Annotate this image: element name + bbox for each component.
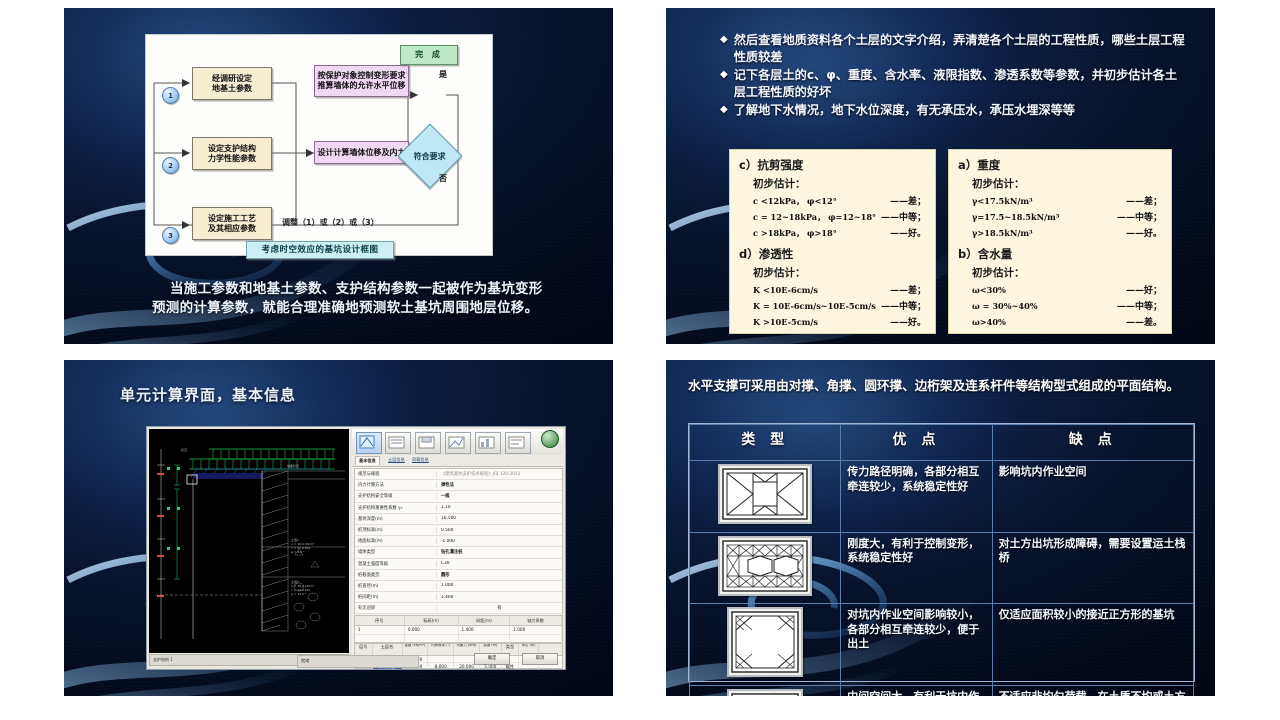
panel-row: ω<30%——好； xyxy=(972,283,1162,296)
panel-row: c = 12~18kPa， φ=12~18°——中等； xyxy=(753,210,926,223)
table-row: 中间空间大，有利于坑内作业 不适应非均匀荷载，在土质不均或土方开挖不对称的情况下… xyxy=(690,685,1194,696)
panel-row-rhs: ——好； xyxy=(1122,283,1162,296)
panel-row-lhs: γ=17.5~18.5kN/m³ xyxy=(972,212,1113,222)
panel-row-lhs: c = 12~18kPa， φ=12~18° xyxy=(753,211,877,223)
property-key: 有无冠梁 xyxy=(355,605,437,611)
slide-1-caption: 当施工参数和地基土参数、支护结构参数一起被作为基坑变形 预测的计算参数，就能合理… xyxy=(152,280,589,318)
support-level-grid[interactable]: 序号 标高(m) 间距(m) 轴力系数 1 0.000 1.400 1.000 xyxy=(354,615,563,643)
property-value: 1.10 xyxy=(437,505,562,510)
property-row: 基坑深度(m)16.500 xyxy=(355,514,562,525)
flowchart-container: 经调研设定地基土参数 1 设定支护结构力学性能参数 2 设定施工工艺及其相应参数… xyxy=(145,34,493,256)
panel-row: c <12kPa， φ<12°——差； xyxy=(753,194,926,207)
property-key: 支护结构重要性系数 γ₀ xyxy=(355,505,437,511)
panel-row-rhs: ——好。 xyxy=(1122,226,1162,239)
panel-row-lhs: K >10E-5cm/s xyxy=(753,317,886,327)
grid-row: 1 0.000 1.400 1.000 xyxy=(355,626,562,635)
panel-row-lhs: ω = 30%~40% xyxy=(972,301,1113,311)
cad-viewport[interactable]: 土层1 γ = 18.0 kN/m³ c = 20.0 kPa φ = 8.0 … xyxy=(149,429,349,653)
flow-box-constraint[interactable]: 按保护对象控制变形要求推算墙体的允许水平位移 xyxy=(314,65,409,97)
property-key: 内力计算方法 xyxy=(355,482,437,488)
panel-section-sub: 初步估计： xyxy=(972,265,1162,280)
bullet-item: ◆了解地下水情况，地下水位深度，有无承压水，承压水埋深等等 xyxy=(720,102,1189,119)
panel-row-lhs: γ>18.5kN/m³ xyxy=(972,228,1122,238)
type-cell xyxy=(690,604,841,686)
diamond-bullet-icon: ◆ xyxy=(720,102,728,119)
panel-row-lhs: γ<17.5kN/m³ xyxy=(972,196,1122,206)
slide-4[interactable]: 水平支撑可采用由对撑、角撑、圆环撑、边桁架及连系杆件等结构型式组成的平面结构。 … xyxy=(666,360,1215,696)
slide-4-title: 水平支撑可采用由对撑、角撑、圆环撑、边桁架及连系杆件等结构型式组成的平面结构。 xyxy=(688,378,1197,394)
flow-box-design-label: 设计计算墙体位移及内力 xyxy=(318,148,406,158)
flowchart-caption: 考虑时空效应的基坑设计框图 xyxy=(246,241,394,259)
panel-row-rhs: ——差。 xyxy=(1122,315,1162,328)
flow-box-3-label: 设定施工工艺及其相应参数 xyxy=(208,214,256,234)
support-type-table: 类 型 优 点 缺 点 xyxy=(688,423,1195,682)
grid-cell: 1 xyxy=(355,626,405,634)
dense-grid-truss-diagram-icon xyxy=(718,536,812,596)
flow-decision-label: 符合要求 xyxy=(414,151,446,162)
property-row: 支护结构安全等级一级 xyxy=(355,491,562,502)
property-row: 桩直径(m)1.000 xyxy=(355,581,562,592)
property-key: 混凝土强度等级 xyxy=(355,561,437,567)
panel-row-rhs: ——中等； xyxy=(1113,299,1162,312)
property-row: 规范与规程《建筑基坑支护技术规程》JGJ 120-2012 xyxy=(355,469,562,480)
panel-row-lhs: ω<30% xyxy=(972,285,1122,295)
grid-header: 序号 标高(m) 间距(m) 轴力系数 xyxy=(355,616,562,626)
property-list[interactable]: 规范与规程《建筑基坑支护技术规程》JGJ 120-2012 内力计算方法弹性法 … xyxy=(354,468,563,614)
property-value: C30 xyxy=(437,561,562,566)
table-header-row: 类 型 优 点 缺 点 xyxy=(690,425,1194,461)
panel-row-rhs: ——差； xyxy=(886,283,926,296)
panel-row-rhs: ——中等； xyxy=(877,299,926,312)
grid-cell: 1.400 xyxy=(459,626,511,634)
flow-step-number-1: 1 xyxy=(162,87,179,104)
grid-col-header: 序号 xyxy=(355,616,405,625)
flow-box-2-label: 设定支护结构力学性能参数 xyxy=(208,144,256,164)
header-type: 类 型 xyxy=(690,425,841,461)
grid-col-header: 标高(m) xyxy=(405,616,459,625)
panel-row: K >10E-5cm/s——好。 xyxy=(753,315,926,328)
tab-load-info[interactable]: 荷载信息 xyxy=(410,456,431,464)
flow-step-number-2: 2 xyxy=(162,157,179,174)
panel-section-sub: 初步估计： xyxy=(753,176,926,191)
flow-step-number-3: 3 xyxy=(162,227,179,244)
slide-1-caption-line1: 当施工参数和地基土参数、支护结构参数一起被作为基坑变形 xyxy=(170,281,543,297)
slide-1-caption-line2: 预测的计算参数，就能合理准确地预测软土基坑周围地层位移。 xyxy=(152,300,538,316)
flow-label-yes: 是 xyxy=(439,69,447,80)
cancel-button[interactable]: 取消 xyxy=(522,653,558,665)
panel-row-lhs: K <10E-6cm/s xyxy=(753,285,886,295)
ok-button[interactable]: 确定 xyxy=(474,653,510,665)
diamond-bullet-icon: ◆ xyxy=(720,67,728,101)
panel-row-rhs: ——差； xyxy=(886,194,926,207)
property-row: 桩截面类型圆形 xyxy=(355,570,562,581)
property-value: 有 xyxy=(437,605,562,611)
panel-row: ω = 30%~40%——中等； xyxy=(972,299,1162,312)
tab-soil-info[interactable]: 土层信息 xyxy=(386,456,407,464)
grid-cell: 0.000 xyxy=(405,626,459,634)
help-circle-icon[interactable] xyxy=(541,430,559,448)
panel-row: γ<17.5kN/m³——差； xyxy=(972,194,1162,207)
panel-row-rhs: ——中等； xyxy=(1113,210,1162,223)
grid-cell: 1.000 xyxy=(510,626,562,634)
pros-cell: 传力路径明确，各部分相互牵连较少，系统稳定性好 xyxy=(841,461,992,533)
app-status-bar: 就绪 xyxy=(297,655,419,668)
type-cell xyxy=(690,685,841,696)
bullet-item: ◆记下各层土的c、φ、重度、含水率、液限指数、渗透系数等参数，并初步估计各土层工… xyxy=(720,67,1189,101)
header-pros: 优 点 xyxy=(841,425,992,461)
flow-box-1-label: 经调研设定地基土参数 xyxy=(212,74,252,94)
panel-row: K <10E-6cm/s——差； xyxy=(753,283,926,296)
flow-terminal-label: 完 成 xyxy=(415,50,443,60)
property-row: 墙体类型钻孔灌注桩 xyxy=(355,547,562,558)
flow-label-no: 否 xyxy=(439,173,447,184)
panel-row: ω>40%——差。 xyxy=(972,315,1162,328)
flowchart-caption-label: 考虑时空效应的基坑设计框图 xyxy=(261,245,378,256)
panel-section-sub: 初步估计： xyxy=(972,176,1162,191)
svg-text:φ = 8.0 °: φ = 8.0 ° xyxy=(291,550,305,554)
panel-section-heading: d）渗透性 xyxy=(739,246,926,262)
panel-row: c >18kPa， φ>18°——好。 xyxy=(753,226,926,239)
table-row: 对坑内作业空间影响较小，各部分相互牵连较少，便于出土 仅适应面积较小的接近正方形… xyxy=(690,604,1194,686)
property-value: 一级 xyxy=(437,493,562,499)
panel-density-moisture: a）重度 初步估计： γ<17.5kN/m³——差； γ=17.5~18.5kN… xyxy=(948,149,1172,334)
flow-box-design[interactable]: 设计计算墙体位移及内力 xyxy=(314,141,409,164)
bullet-text: 然后查看地质资料各个土层的文字介绍，弄清楚各个土层的工程性质，哪些土层工程性质较… xyxy=(734,32,1189,66)
slide-1[interactable]: 经调研设定地基土参数 1 设定支护结构力学性能参数 2 设定施工工艺及其相应参数… xyxy=(64,8,613,344)
bullet-text: 记下各层土的c、φ、重度、含水率、液限指数、渗透系数等参数，并初步估计各土层工程… xyxy=(734,67,1189,101)
panel-row: γ=17.5~18.5kN/m³——中等； xyxy=(972,210,1162,223)
flow-terminal[interactable]: 完 成 xyxy=(400,45,458,65)
property-value: 圆形 xyxy=(437,572,562,578)
panel-row: K = 10E-6cm/s~10E-5cm/s——中等； xyxy=(753,299,926,312)
property-row: 地面标高(m)-1.000 xyxy=(355,536,562,547)
toolbar-button-report[interactable] xyxy=(505,432,531,454)
slide-2[interactable]: ◆然后查看地质资料各个土层的文字介绍，弄清楚各个土层的工程性质，哪些土层工程性质… xyxy=(666,8,1215,344)
tab-basic-info[interactable]: 基本信息 xyxy=(355,456,380,465)
panel-row: γ>18.5kN/m³——好。 xyxy=(972,226,1162,239)
flow-box-constraint-label: 按保护对象控制变形要求推算墙体的允许水平位移 xyxy=(318,71,406,91)
property-key: 桩间距(m) xyxy=(355,594,437,600)
toolbar-button-new[interactable] xyxy=(356,432,382,454)
panel-section-heading: b）含水量 xyxy=(958,246,1162,262)
property-value: 《建筑基坑支护技术规程》JGJ 120-2012 xyxy=(437,471,562,477)
property-row: 内力计算方法弹性法 xyxy=(355,480,562,491)
pros-cell: 刚度大，有利于控制变形，系统稳定性好 xyxy=(841,532,992,604)
flow-box-3[interactable]: 设定施工工艺及其相应参数 xyxy=(192,207,272,240)
octagon-corner-brace-diagram-icon xyxy=(727,607,803,677)
panel-row-rhs: ——中等； xyxy=(877,210,926,223)
flow-box-1[interactable]: 经调研设定地基土参数 xyxy=(192,67,272,100)
grid-col-header: 轴力系数 xyxy=(510,616,562,625)
slide-3-title: 单元计算界面，基本信息 xyxy=(120,384,296,405)
property-key: 桩顶标高(m) xyxy=(355,527,437,533)
panel-row-rhs: ——好。 xyxy=(886,315,926,328)
bullet-text: 了解地下水情况，地下水位深度，有无承压水，承压水埋深等等 xyxy=(734,102,1189,119)
property-value: 弹性法 xyxy=(437,482,562,488)
property-row: 桩间距(m)1.400 xyxy=(355,592,562,603)
toolbar-button-calc[interactable] xyxy=(445,432,471,454)
slide-3[interactable]: 单元计算界面，基本信息 xyxy=(64,360,613,696)
flow-box-2[interactable]: 设定支护结构力学性能参数 xyxy=(192,137,272,170)
type-cell xyxy=(690,532,841,604)
property-value: -1.000 xyxy=(437,539,562,544)
panel-row-rhs: ——好。 xyxy=(886,226,926,239)
svg-text:地面标高: 地面标高 xyxy=(287,463,299,468)
property-row: 有无冠梁有 xyxy=(355,603,562,614)
header-cons: 缺 点 xyxy=(992,425,1193,461)
property-key: 桩直径(m) xyxy=(355,583,437,589)
toolbar-button-open[interactable] xyxy=(385,432,411,454)
table-row: 传力路径明确，各部分相互牵连较少，系统稳定性好 影响坑内作业空间 xyxy=(690,461,1194,533)
properties-pane[interactable]: 基本信息 土层信息 荷载信息 规范与规程《建筑基坑支护技术规程》JGJ 120-… xyxy=(352,429,563,667)
property-row: 支护结构重要性系数 γ₀1.10 xyxy=(355,503,562,514)
property-row: 桩顶标高(m)0.500 xyxy=(355,525,562,536)
slide-2-bullet-list: ◆然后查看地质资料各个土层的文字介绍，弄清楚各个土层的工程性质，哪些土层工程性质… xyxy=(720,32,1189,120)
panel-row-lhs: c <12kPa， φ<12° xyxy=(753,195,886,207)
toolbar-button-chart[interactable] xyxy=(475,432,501,454)
cons-cell: 仅适应面积较小的接近正方形的基坑 xyxy=(992,604,1193,686)
panel-row-lhs: K = 10E-6cm/s~10E-5cm/s xyxy=(753,301,877,311)
panel-section-heading: a）重度 xyxy=(958,157,1162,173)
bullet-item: ◆然后查看地质资料各个土层的文字介绍，弄清楚各个土层的工程性质，哪些土层工程性质… xyxy=(720,32,1189,66)
slides-contact-sheet: 经调研设定地基土参数 1 设定支护结构力学性能参数 2 设定施工工艺及其相应参数… xyxy=(0,0,1280,720)
property-key: 地面标高(m) xyxy=(355,538,437,544)
property-value: 1.400 xyxy=(437,595,562,600)
circular-ring-brace-diagram-icon xyxy=(727,689,803,696)
software-window-screenshot[interactable]: 土层1 γ = 18.0 kN/m³ c = 20.0 kPa φ = 8.0 … xyxy=(146,426,566,670)
property-key: 墙体类型 xyxy=(355,549,437,555)
grid-col-header: 间距(m) xyxy=(459,616,511,625)
panel-row-lhs: ω>40% xyxy=(972,317,1122,327)
cons-cell: 不适应非均匀荷载，在土质不均或土方开挖不对称的情况下圆环易发生漂移 xyxy=(992,685,1193,696)
property-value: 钻孔灌注桩 xyxy=(437,549,562,555)
property-value: 1.000 xyxy=(437,583,562,588)
diamond-bullet-icon: ◆ xyxy=(720,32,728,66)
flow-adjust-note: 调整（1）或（2）或（3） xyxy=(282,217,379,228)
svg-text:标高: 标高 xyxy=(181,447,187,452)
svg-text:φ = 14.0 °: φ = 14.0 ° xyxy=(291,592,307,596)
property-key: 桩截面类型 xyxy=(355,572,437,578)
cross-brace-rect-diagram-icon xyxy=(718,464,812,524)
property-key: 支护结构安全等级 xyxy=(355,493,437,499)
pros-cell: 中间空间大，有利于坑内作业 xyxy=(841,685,992,696)
cons-cell: 影响坑内作业空间 xyxy=(992,461,1193,533)
panel-shear-permeability: c）抗剪强度 初步估计： c <12kPa， φ<12°——差； c = 12~… xyxy=(729,149,936,334)
property-key: 基坑深度(m) xyxy=(355,516,437,522)
panel-section-heading: c）抗剪强度 xyxy=(739,157,926,173)
property-key: 规范与规程 xyxy=(355,471,437,477)
toolbar-button-save[interactable] xyxy=(415,432,441,454)
table-row: 刚度大，有利于控制变形，系统稳定性好 对土方出坑形成障碍，需要设置运土栈桥 xyxy=(690,532,1194,604)
type-cell xyxy=(690,461,841,533)
property-row: 混凝土强度等级C30 xyxy=(355,559,562,570)
panel-row-rhs: ——差； xyxy=(1122,194,1162,207)
toolbar-ribbon[interactable] xyxy=(352,429,563,456)
property-value: 0.500 xyxy=(437,528,562,533)
pros-cell: 对坑内作业空间影响较小，各部分相互牵连较少，便于出土 xyxy=(841,604,992,686)
panel-section-sub: 初步估计： xyxy=(753,265,926,280)
cad-section-drawing: 土层1 γ = 18.0 kN/m³ c = 20.0 kPa φ = 8.0 … xyxy=(149,429,349,653)
cons-cell: 对土方出坑形成障碍，需要设置运土栈桥 xyxy=(992,532,1193,604)
app-status-text: 就绪 xyxy=(298,656,418,665)
tab-strip[interactable]: 基本信息 土层信息 荷载信息 xyxy=(352,455,563,467)
property-value: 16.500 xyxy=(437,516,562,521)
panel-row-lhs: c >18kPa， φ>18° xyxy=(753,227,886,239)
